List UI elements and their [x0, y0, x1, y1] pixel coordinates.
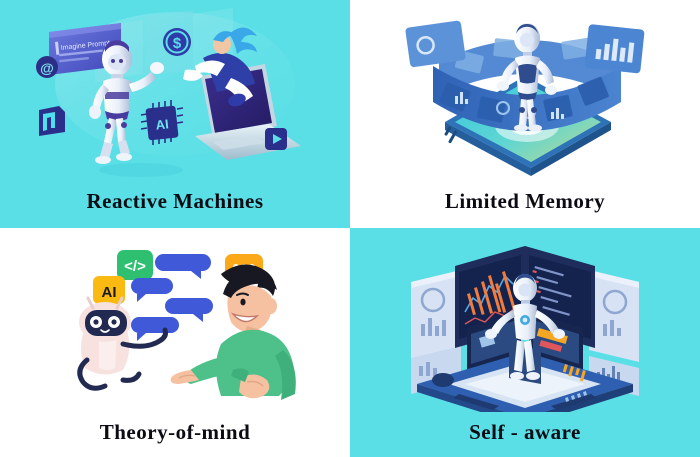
- illustration-robot-on-phone: [350, 4, 700, 184]
- illustration-chatbot-person: </> AI: [0, 232, 350, 412]
- svg-text:$: $: [173, 35, 182, 52]
- chatbot-avatar: [79, 298, 166, 388]
- card-self-aware[interactable]: Self - aware: [350, 228, 700, 457]
- ai-types-grid: Imagine Prompt... $ @: [0, 0, 700, 457]
- card-label-self-aware: Self - aware: [350, 420, 700, 445]
- illustration-robot-control-station: [350, 232, 700, 412]
- chat-bubble: [131, 278, 173, 302]
- person-avatar: [171, 264, 296, 400]
- at-sign-icon: @: [36, 56, 58, 78]
- limited-memory-svg: [375, 4, 675, 184]
- folder-icon: [39, 106, 65, 136]
- card-reactive-machines[interactable]: Imagine Prompt... $ @: [0, 0, 350, 228]
- ai-badge-label: AI: [102, 284, 117, 301]
- chat-bubble: [131, 317, 179, 341]
- left-panel: [405, 20, 466, 67]
- play-button-icon: [265, 128, 287, 150]
- card-limited-memory[interactable]: Limited Memory: [350, 0, 700, 228]
- reactive-machines-svg: Imagine Prompt... $ @: [25, 4, 325, 184]
- card-theory-of-mind[interactable]: </> AI: [0, 228, 350, 457]
- code-badge-label: </>: [124, 258, 146, 275]
- svg-text:@: @: [40, 60, 54, 76]
- chat-bubble: [155, 254, 211, 279]
- code-badge-icon: </>: [117, 250, 153, 280]
- bar-chart-panel: [584, 24, 644, 74]
- ai-chip-label: AI: [155, 116, 169, 132]
- card-label-limited-memory: Limited Memory: [350, 189, 700, 214]
- dollar-coin-icon: $: [163, 28, 191, 56]
- card-label-theory-of-mind: Theory-of-mind: [0, 420, 350, 445]
- card-label-reactive-machines: Reactive Machines: [0, 189, 350, 214]
- self-aware-svg: [375, 232, 675, 412]
- theory-of-mind-svg: </> AI: [25, 232, 325, 412]
- illustration-robot-handshake-laptop: Imagine Prompt... $ @: [0, 4, 350, 184]
